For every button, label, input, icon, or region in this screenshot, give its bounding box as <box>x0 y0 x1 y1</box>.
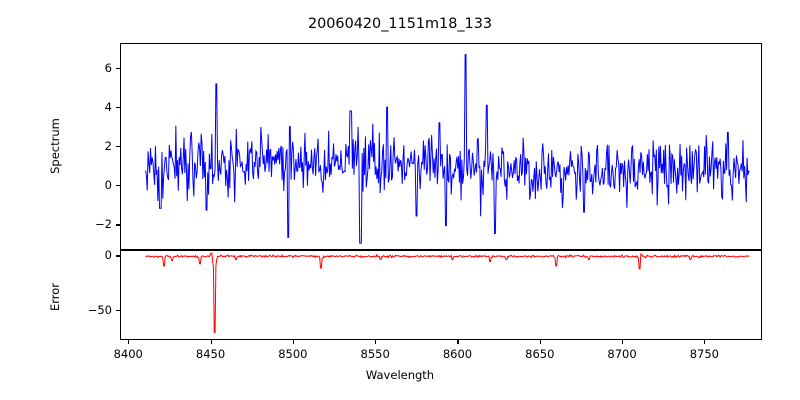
y-tick-mark <box>116 68 120 69</box>
x-tick-mark <box>622 340 623 344</box>
plot-title: 20060420_1151m18_133 <box>0 16 800 32</box>
y-tick-label: 0 <box>105 178 112 192</box>
error-axes <box>120 250 762 340</box>
x-tick-label: 8700 <box>607 347 636 361</box>
y-tick-mark <box>116 255 120 256</box>
x-tick-mark <box>540 340 541 344</box>
y-tick-label: 0 <box>105 248 112 262</box>
y-tick-label: 2 <box>105 139 112 153</box>
y-tick-label: 4 <box>105 100 112 114</box>
spectrum-y-axis-label: Spectrum <box>48 86 62 206</box>
matplotlib-figure: 20060420_1151m18_133 −202460−50 84008450… <box>0 0 800 400</box>
y-tick-mark <box>116 185 120 186</box>
x-tick-mark <box>704 340 705 344</box>
x-tick-label: 8500 <box>278 347 307 361</box>
error-y-axis-label: Error <box>48 237 62 357</box>
x-tick-label: 8450 <box>196 347 225 361</box>
x-tick-mark <box>293 340 294 344</box>
x-tick-label: 8400 <box>114 347 143 361</box>
y-tick-mark <box>116 146 120 147</box>
y-tick-mark <box>116 310 120 311</box>
spectrum-axes <box>120 43 762 250</box>
x-tick-label: 8600 <box>443 347 472 361</box>
y-tick-mark <box>116 107 120 108</box>
error-line-series <box>121 251 761 339</box>
x-tick-label: 8550 <box>361 347 390 361</box>
x-tick-mark <box>128 340 129 344</box>
y-tick-label: 6 <box>105 61 112 75</box>
y-tick-label: −50 <box>88 303 112 317</box>
spectrum-line-series <box>121 44 761 249</box>
x-tick-mark <box>211 340 212 344</box>
y-tick-label: −2 <box>95 217 112 231</box>
y-tick-mark <box>116 224 120 225</box>
x-tick-label: 8750 <box>690 347 719 361</box>
x-tick-label: 8650 <box>525 347 554 361</box>
x-axis-label: Wavelength <box>0 368 800 382</box>
x-tick-mark <box>457 340 458 344</box>
x-tick-mark <box>375 340 376 344</box>
